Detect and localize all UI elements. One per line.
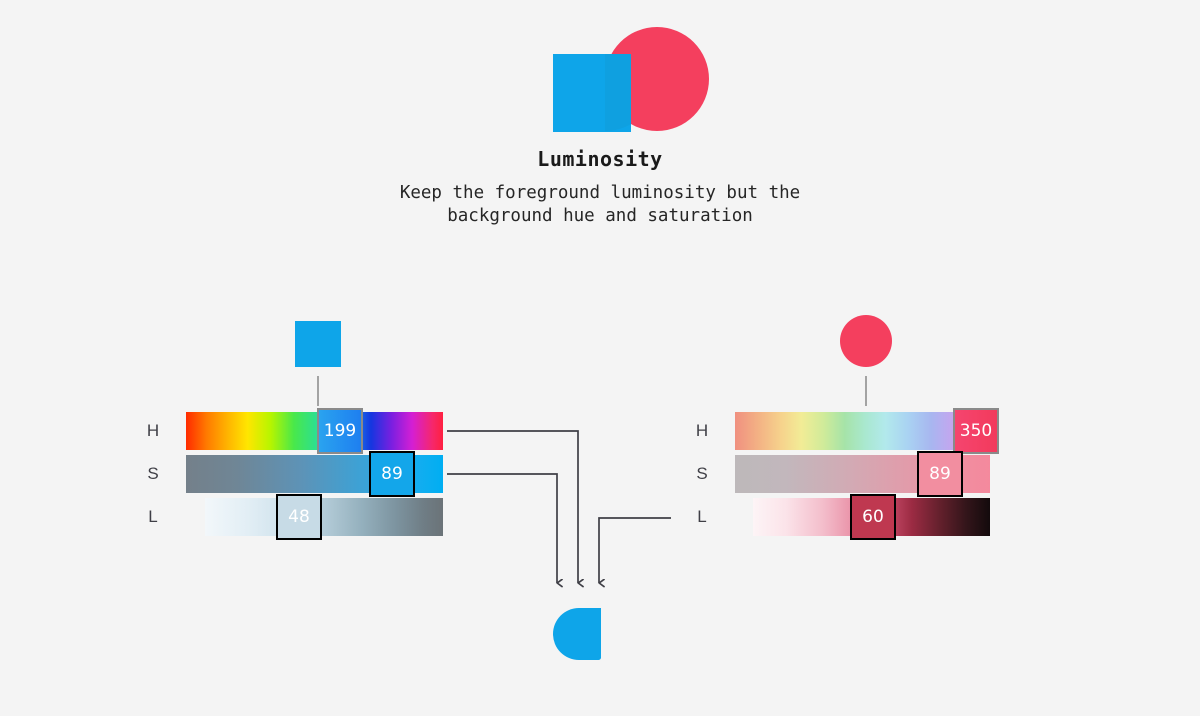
result-shape bbox=[553, 608, 601, 660]
connector-saturation-left bbox=[447, 474, 557, 583]
result-shape-fill bbox=[553, 608, 601, 660]
connector-hue-left bbox=[447, 431, 578, 583]
connector-luminosity-right bbox=[599, 518, 671, 583]
canvas: Luminosity Keep the foreground luminosit… bbox=[0, 0, 1200, 716]
